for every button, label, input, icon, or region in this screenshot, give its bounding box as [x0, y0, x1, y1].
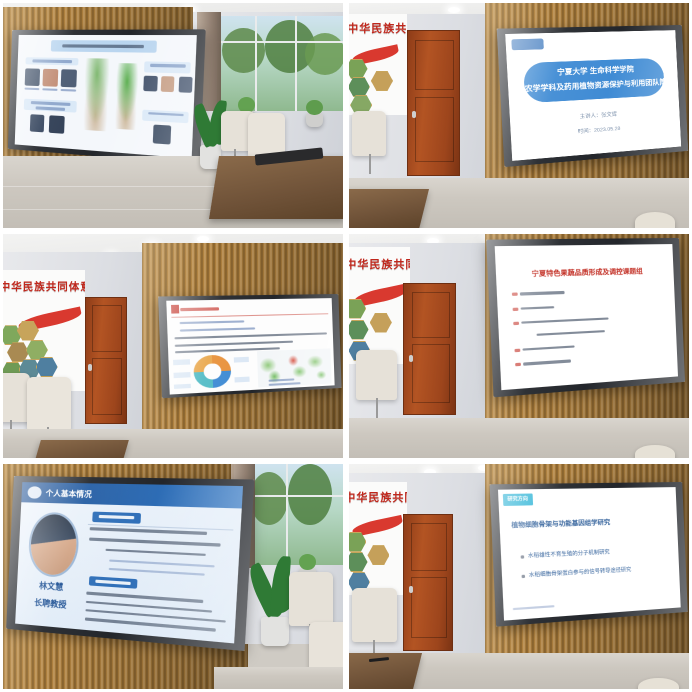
door-panel [415, 97, 454, 162]
window [217, 16, 343, 110]
slide-bullet-text: 水稻细胞骨架蛋白参与的信号转导途径研究 [529, 564, 670, 579]
plant-illustration [113, 63, 141, 131]
panel-top-right[interactable]: 中华民族共同体意识 宁夏大学 生命科学学院 农学学科及药用植物资源保护与利用团队… [349, 3, 689, 228]
wooden-door[interactable] [403, 514, 453, 651]
hex-photo-tile [349, 552, 368, 572]
slide-line [86, 591, 203, 602]
display-screen[interactable]: 研究方向 植物细胞骨架与功能基因组学研究 水稻雄性不育生殖的分子机制研究 水稻细… [499, 488, 682, 621]
slide-title-text: 植物细胞骨架与功能基因组学研究 [511, 516, 654, 530]
team-name-label [60, 89, 75, 92]
office-chair [356, 350, 397, 399]
plant-illustration [81, 58, 112, 131]
slide-subtitle-2: 时间：2023.05.28 [547, 123, 649, 138]
panel-bottom-right[interactable]: 中华民族共同体意识 研究方向 植物细胞骨架与功能基因组学研究 水稻雄性不育生殖的… [349, 464, 689, 689]
diagram-label [234, 377, 249, 382]
slide-bullet-text: 水稻雄性不育生殖的分子机制研究 [528, 546, 656, 559]
wall-display[interactable]: 宁夏大学 生命科学学院 农学学科及药用植物资源保护与利用团队简介 主讲人：张文辉… [497, 25, 689, 167]
hex-photo-tile [371, 71, 393, 91]
slide-header-text: 个人基本情况 [45, 487, 153, 501]
display-screen[interactable]: 个人基本情况 林文慧 长聘教授 [15, 482, 243, 643]
photo-collage: 中华民族共同体意识 宁夏大学 生命科学学院 农学学科及药用植物资源保护与利用团队… [0, 0, 692, 692]
tree-foliage-icon [250, 472, 288, 525]
team-name-label [24, 88, 39, 91]
tree-foliage-icon [305, 33, 343, 75]
plant-leaf-icon [299, 554, 316, 570]
door-panel [411, 523, 447, 571]
panel-middle-right[interactable]: 中华民族共同体意识 宁夏特色果蔬品质形成及调控课题组 [349, 234, 689, 459]
diagram-label [234, 357, 249, 362]
portrait-name: 林文慧 [24, 578, 78, 593]
slide-subtitle-1: 主讲人：张文辉 [546, 109, 648, 123]
team-portrait [178, 77, 192, 93]
team-portrait [144, 76, 158, 92]
window-mullion [255, 16, 257, 110]
slide-bullet [174, 341, 292, 347]
portrait-title: 长聘教授 [24, 595, 78, 610]
display-screen[interactable]: 宁夏特色果蔬品质形成及调控课题组 [495, 244, 678, 390]
title-underline [172, 313, 328, 318]
side-table [349, 189, 429, 227]
slide-subnote [109, 559, 214, 567]
culture-wall-title: 中华民族共同体意识 [349, 489, 407, 505]
culture-wall: 中华民族共同体意识 [349, 247, 410, 364]
display-screen[interactable]: 宁夏大学 生命科学学院 农学学科及药用植物资源保护与利用团队简介 主讲人：张文辉… [505, 31, 682, 161]
downlight-icon [197, 236, 209, 242]
team-portrait [25, 68, 40, 86]
bullet-marker [514, 322, 519, 325]
door-panel [411, 577, 447, 638]
wall-display[interactable] [158, 294, 342, 399]
door-handle[interactable] [409, 586, 413, 593]
team-portrait [49, 115, 65, 134]
window-mullion [286, 464, 288, 565]
window-transom [217, 41, 343, 43]
slide-bullet [523, 360, 571, 366]
slide-bullet [179, 327, 254, 331]
slide-footer [514, 606, 555, 611]
door-panel [412, 292, 451, 338]
door-panel [415, 40, 454, 91]
bullet-marker [515, 349, 520, 353]
chair-leg [376, 398, 378, 418]
slide-title-text [180, 307, 218, 311]
window-transom [248, 495, 343, 497]
team-portrait [60, 69, 76, 88]
slide-bullet [537, 330, 605, 336]
diagram-label [173, 360, 189, 365]
hex-photo-tile [349, 320, 369, 340]
panel-middle-left[interactable]: 中华民族共同体意识 [3, 234, 343, 459]
slide-bullet [179, 320, 244, 324]
display-screen[interactable] [166, 298, 335, 394]
diagram-label [174, 384, 190, 389]
door-panel [92, 358, 123, 415]
panel-bottom-left[interactable]: 个人基本情况 林文慧 长聘教授 [3, 464, 343, 689]
team-portrait [29, 114, 44, 133]
hex-photo-tile [370, 313, 392, 333]
culture-wall-title: 中华民族共同体意识 [349, 20, 407, 36]
team-name-label [42, 89, 57, 92]
floor [214, 667, 343, 689]
panel-top-left[interactable] [3, 3, 343, 228]
bullet-marker [513, 307, 518, 310]
office-chair [289, 572, 333, 626]
planter [261, 617, 288, 646]
slide-line [89, 537, 220, 546]
bullet-marker [512, 293, 517, 296]
window [248, 464, 343, 565]
hex-photo-tile [349, 77, 370, 97]
slide-bullet [520, 291, 564, 295]
office-chair [309, 622, 343, 671]
wooden-door[interactable] [403, 283, 456, 415]
diagram-label [174, 373, 190, 378]
culture-wall: 中华民族共同体意识 [349, 482, 407, 594]
wooden-door[interactable] [407, 30, 460, 176]
door-panel [412, 344, 451, 403]
university-seal-icon [27, 485, 42, 498]
slide-bullet [521, 317, 608, 324]
bullet-marker [522, 575, 526, 578]
team-portrait [42, 68, 57, 86]
slide-line [105, 548, 205, 556]
slide-subnote [109, 568, 204, 576]
section-label-text [99, 515, 134, 519]
office-chair [635, 212, 676, 228]
wall-display[interactable]: 研究方向 植物细胞骨架与功能基因组学研究 水稻雄性不育生殖的分子机制研究 水稻细… [490, 482, 688, 627]
tab-label-text: 研究方向 [503, 495, 534, 502]
window-mullion [295, 16, 297, 110]
hex-photo-tile [367, 545, 389, 565]
wall-display[interactable]: 宁夏特色果蔬品质形成及调控课题组 [486, 238, 685, 397]
culture-wall-title: 中华民族共同体意识 [349, 256, 410, 272]
slide-bullet [523, 346, 575, 352]
portrait-photo [29, 513, 77, 575]
bullet-marker [516, 363, 521, 367]
office-chair [635, 445, 676, 458]
team-portrait [161, 76, 175, 92]
culture-wall-title: 中华民族共同体意识 [3, 279, 85, 294]
team-portrait [153, 124, 171, 145]
wooden-door[interactable] [85, 297, 128, 425]
door-handle[interactable] [88, 364, 92, 371]
slide-bullet [174, 333, 326, 340]
wall-display[interactable]: 个人基本情况 林文慧 长聘教授 [6, 475, 254, 650]
door-handle[interactable] [409, 355, 413, 362]
slide-title-text: 宁夏特色果蔬品质形成及调控课题组 [505, 264, 665, 278]
planter [306, 113, 323, 126]
office-chair [27, 377, 71, 431]
side-table [33, 440, 129, 458]
display-screen[interactable] [15, 35, 197, 159]
plant-leaf-icon [306, 100, 323, 116]
bullet-marker [521, 556, 525, 559]
culture-wall: 中华民族共同体意识 [349, 14, 407, 115]
slide-bullet [521, 306, 555, 310]
conference-table [209, 156, 343, 219]
door-handle[interactable] [412, 111, 416, 118]
office-chair [352, 111, 386, 156]
title-flag [171, 305, 178, 314]
door-panel [92, 305, 123, 352]
chair-leg [369, 154, 371, 174]
tree-foliage-icon [222, 28, 265, 73]
university-logo [511, 39, 544, 51]
office-chair [352, 588, 396, 642]
wall-display[interactable] [8, 29, 206, 165]
